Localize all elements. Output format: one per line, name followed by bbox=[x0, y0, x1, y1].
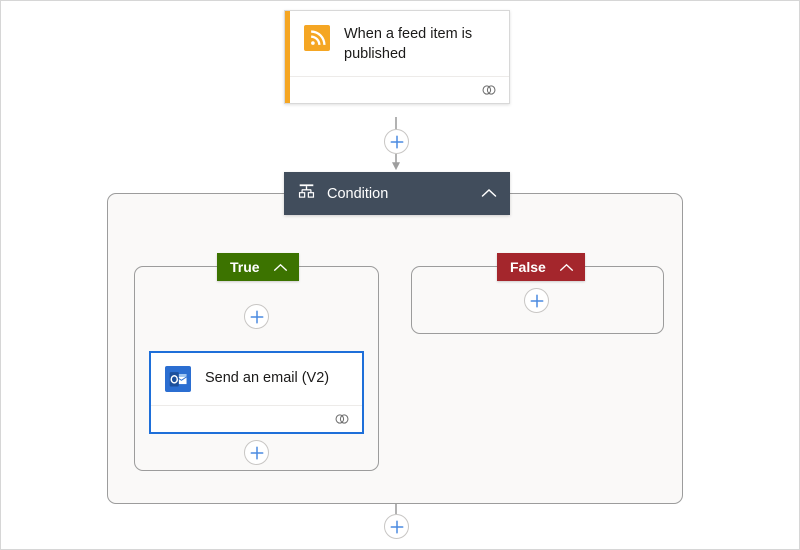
branch-pill-true-label: True bbox=[230, 259, 260, 275]
action-title: Send an email (V2) bbox=[205, 369, 329, 389]
add-step-after-trigger-button[interactable] bbox=[384, 129, 409, 154]
trigger-card-body: When a feed item is published bbox=[285, 11, 509, 76]
action-card-footer bbox=[151, 405, 362, 432]
chain-link-icon[interactable] bbox=[481, 83, 497, 97]
chevron-up-icon[interactable] bbox=[559, 263, 574, 272]
add-step-after-condition-button[interactable] bbox=[384, 514, 409, 539]
condition-icon bbox=[298, 183, 315, 204]
rss-icon bbox=[304, 25, 330, 51]
chevron-up-icon[interactable] bbox=[481, 185, 497, 203]
action-card-body: Send an email (V2) bbox=[151, 353, 362, 405]
branch-pill-true[interactable]: True bbox=[217, 253, 299, 281]
trigger-title: When a feed item is published bbox=[344, 25, 495, 64]
action-card-send-email[interactable]: Send an email (V2) bbox=[149, 351, 364, 434]
trigger-card-rss[interactable]: When a feed item is published bbox=[284, 10, 510, 104]
add-step-true-before-email-button[interactable] bbox=[244, 304, 269, 329]
branch-pill-false[interactable]: False bbox=[497, 253, 585, 281]
condition-label: Condition bbox=[327, 186, 481, 202]
condition-card-header[interactable]: Condition bbox=[284, 172, 510, 215]
trigger-card-footer bbox=[285, 76, 509, 103]
chain-link-icon[interactable] bbox=[334, 412, 350, 426]
chevron-up-icon[interactable] bbox=[273, 263, 288, 272]
flow-designer-canvas: When a feed item is published bbox=[0, 0, 800, 550]
branch-pill-false-label: False bbox=[510, 259, 546, 275]
add-step-true-after-email-button[interactable] bbox=[244, 440, 269, 465]
add-step-false-button[interactable] bbox=[524, 288, 549, 313]
trigger-accent-bar bbox=[285, 11, 290, 103]
outlook-icon bbox=[165, 366, 191, 392]
